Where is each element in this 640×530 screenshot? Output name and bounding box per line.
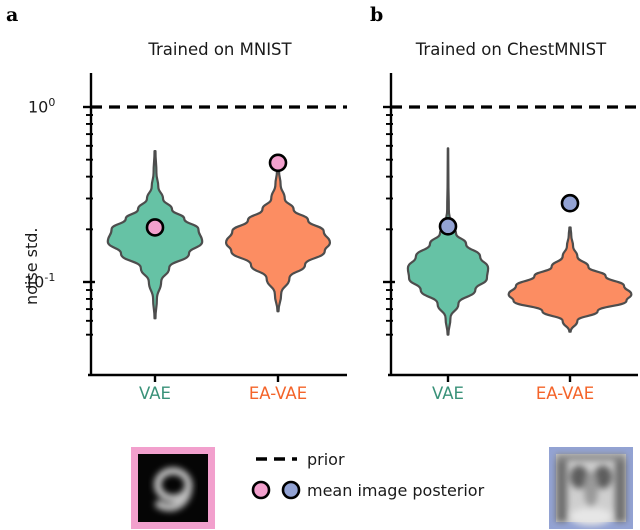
figure-root: a Trained on MNIST noise std. 100 10-1 V… bbox=[0, 0, 640, 530]
legend-label-prior: prior bbox=[307, 450, 345, 469]
x-tick-label-a-eavae: EA-VAE bbox=[218, 384, 338, 403]
panel-b-plot bbox=[380, 0, 640, 400]
x-tick-label-a-vae: VAE bbox=[105, 384, 205, 403]
legend-label-posterior: mean image posterior bbox=[307, 481, 484, 500]
mnist-mean-image-thumbnail bbox=[131, 447, 215, 529]
mnist-thumb-svg bbox=[131, 447, 215, 529]
x-tick-label-b-vae: VAE bbox=[398, 384, 498, 403]
chestmnist-mean-image-thumbnail bbox=[549, 447, 633, 529]
x-tick-label-b-eavae: EA-VAE bbox=[505, 384, 625, 403]
panel-a-plot bbox=[0, 0, 370, 400]
chest-thumb-svg bbox=[549, 447, 633, 529]
